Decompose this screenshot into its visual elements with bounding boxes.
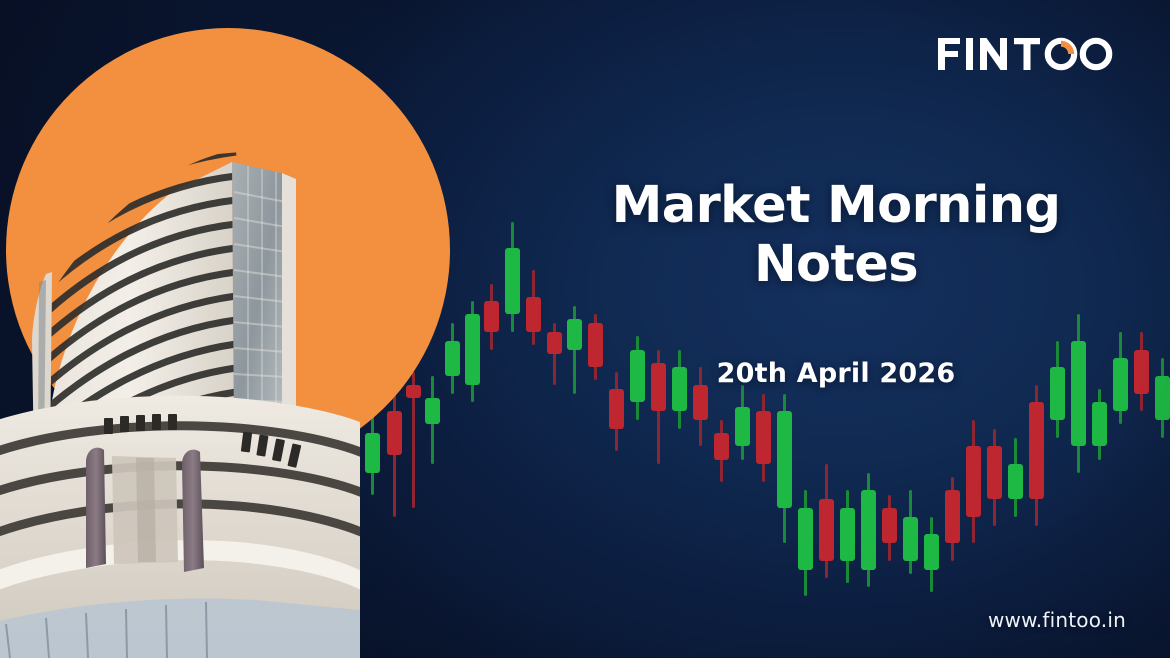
- page-title-line-2: Notes: [556, 235, 1116, 294]
- bse-building-photo: [0, 132, 360, 658]
- fintoo-logo[interactable]: [936, 29, 1126, 75]
- page-title-line-1: Market Morning: [556, 176, 1116, 235]
- tower-right-pier: [282, 173, 296, 432]
- podium-columns: [86, 448, 204, 572]
- banner-date: 20th April 2026: [556, 358, 1116, 389]
- fintoo-logo-wordmark: [936, 30, 1126, 74]
- fintoo-o-ring-1: [1048, 41, 1074, 67]
- market-morning-notes-banner: Market Morning Notes 20th April 2026 www…: [0, 0, 1170, 658]
- fintoo-o-ring-2: [1083, 41, 1109, 67]
- website-url[interactable]: www.fintoo.in: [988, 608, 1126, 632]
- fintoo-letters: [938, 38, 1040, 70]
- bse-building-illustration: [0, 132, 360, 658]
- page-title: Market Morning Notes: [556, 176, 1116, 294]
